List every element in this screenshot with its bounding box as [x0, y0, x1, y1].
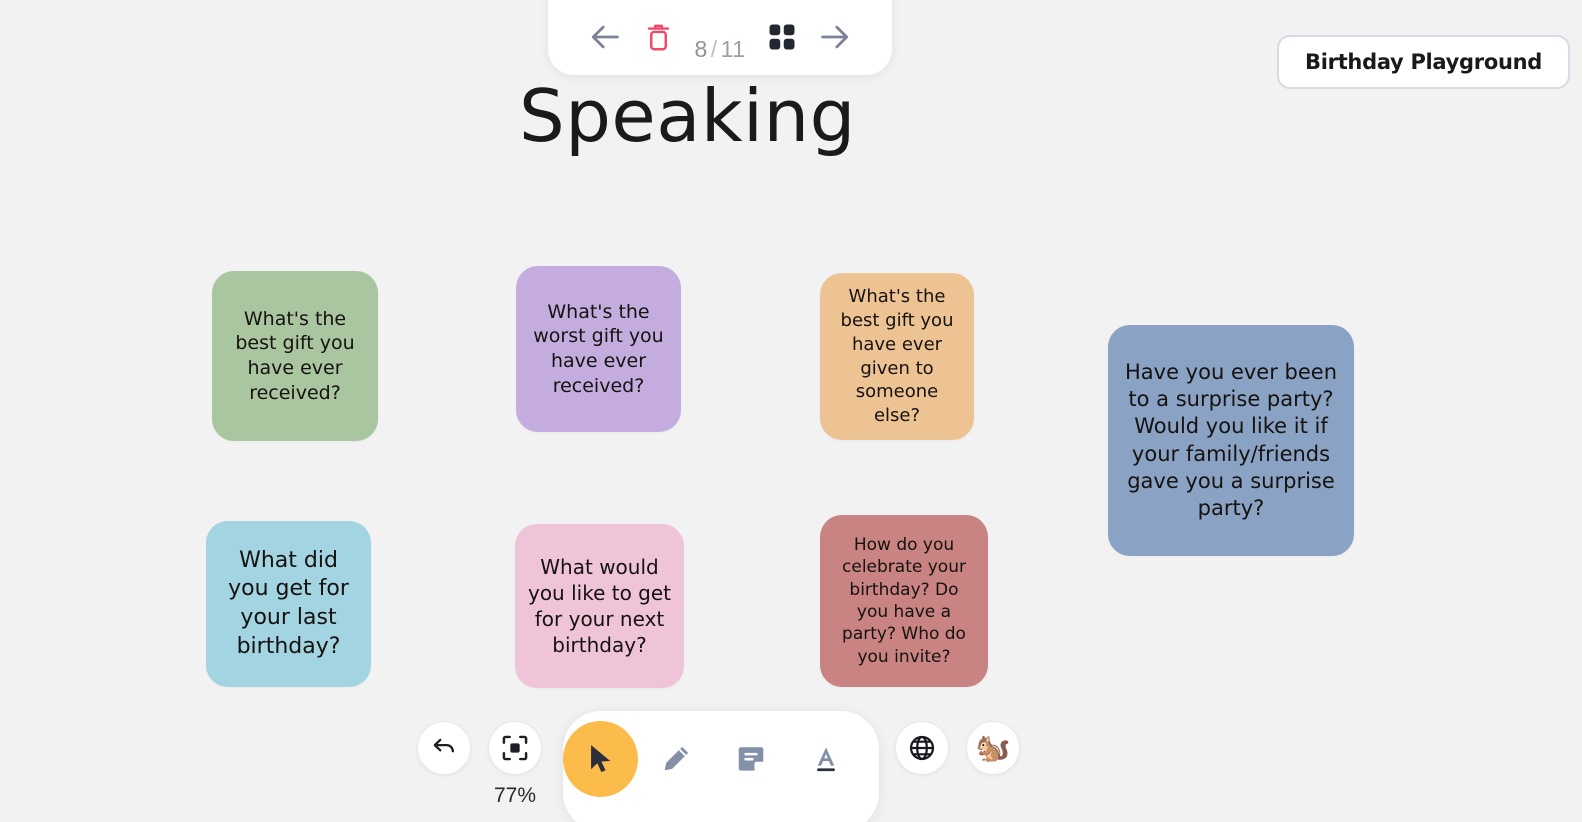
tool-select[interactable]: [563, 721, 638, 797]
board-title-chip[interactable]: Birthday Playground: [1277, 35, 1570, 89]
undo-button[interactable]: [417, 721, 471, 775]
sticky-note[interactable]: What's the best gift you have ever given…: [820, 273, 974, 440]
language-button[interactable]: [895, 721, 949, 775]
sticky-note[interactable]: Have you ever been to a surprise party? …: [1108, 325, 1354, 556]
cursor-icon: [584, 742, 618, 776]
grid-view-button[interactable]: [756, 11, 808, 63]
arrow-right-icon: [817, 20, 851, 54]
sticky-note-text: What would you like to get for your next…: [527, 554, 672, 658]
grid-view-icon: [767, 22, 797, 52]
sticky-note[interactable]: How do you celebrate your birthday? Do y…: [820, 515, 988, 687]
sticky-note[interactable]: What's the best gift you have ever recei…: [212, 271, 378, 441]
sticky-note[interactable]: What's the worst gift you have ever rece…: [516, 266, 681, 432]
tool-draw[interactable]: [638, 721, 713, 797]
fit-to-screen-button[interactable]: [488, 721, 542, 775]
arrow-left-icon: [589, 20, 623, 54]
pencil-icon: [660, 743, 692, 775]
globe-icon: [908, 734, 936, 762]
total-page-count: 11: [721, 36, 746, 62]
squirrel-emoji: 🐿️: [976, 734, 1011, 762]
sticky-note-text: What's the worst gift you have ever rece…: [528, 300, 669, 399]
trash-icon: [645, 23, 672, 52]
current-page-number: 8: [694, 36, 707, 62]
zoom-level-label: 77%: [478, 784, 552, 808]
sticky-note-text: How do you celebrate your birthday? Do y…: [832, 534, 976, 669]
previous-page-button[interactable]: [580, 11, 632, 63]
sticky-note-text: What did you get for your last birthday?: [218, 547, 359, 661]
page-separator: /: [711, 36, 718, 62]
delete-page-button[interactable]: [632, 11, 684, 63]
sticky-note-text: Have you ever been to a surprise party? …: [1120, 359, 1342, 523]
tool-sticky-note[interactable]: [713, 721, 788, 797]
sticky-note[interactable]: What did you get for your last birthday?: [206, 521, 371, 687]
sticky-note[interactable]: What would you like to get for your next…: [515, 524, 684, 688]
next-page-button[interactable]: [808, 11, 860, 63]
sticky-note-text: What's the best gift you have ever recei…: [224, 307, 366, 406]
mascot-button[interactable]: 🐿️: [966, 721, 1020, 775]
tool-palette: [563, 711, 879, 822]
undo-icon: [431, 735, 458, 762]
page-counter: 8/11: [684, 36, 755, 63]
sticky-note-text: What's the best gift you have ever given…: [832, 285, 962, 428]
text-icon: [810, 743, 842, 775]
fit-to-screen-icon: [501, 734, 529, 762]
page-navigation-bar: 8/11: [548, 0, 892, 75]
canvas-heading[interactable]: Speaking: [519, 80, 856, 152]
sticky-note-icon: [735, 743, 767, 775]
tool-text[interactable]: [788, 721, 863, 797]
